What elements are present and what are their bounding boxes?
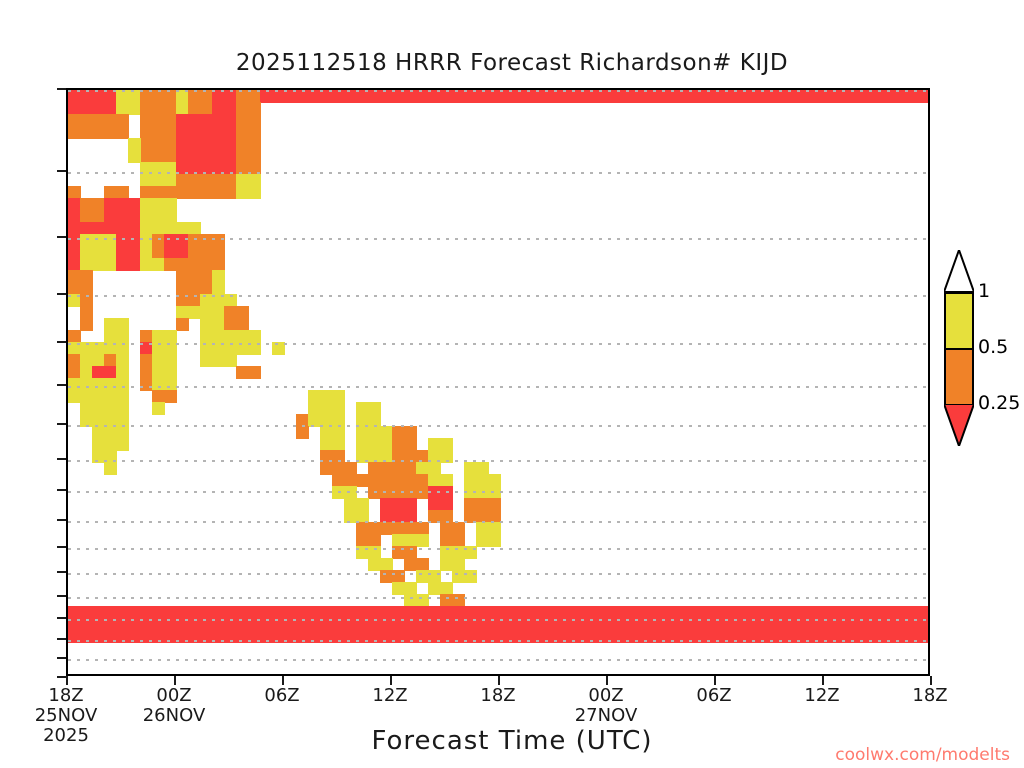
heatmap-cell: [404, 594, 429, 607]
y-tick-mark: [57, 519, 66, 521]
y-tick-mark: [57, 546, 66, 548]
heatmap-cell: [356, 546, 381, 559]
heatmap-cell: [68, 186, 81, 199]
heatmap-cell: [392, 522, 429, 535]
y-tick-mark: [57, 341, 66, 343]
heatmap-cell: [140, 222, 177, 235]
x-tick-mark: [390, 676, 392, 685]
heatmap-cell: [440, 546, 477, 559]
heatmap-cell: [176, 150, 213, 163]
heatmap-cell: [128, 210, 141, 223]
heatmap-cell: [236, 162, 261, 175]
heatmap-cell: [212, 282, 225, 295]
heatmap-cell: [260, 90, 930, 103]
y-tick-mark: [57, 458, 66, 460]
heatmap-cell: [68, 294, 81, 307]
heatmap-cell: [188, 102, 213, 115]
x-tick-mark: [66, 676, 68, 685]
heatmap-cell: [368, 474, 429, 487]
heatmap-cell: [104, 354, 117, 367]
heatmap-cell: [116, 354, 129, 367]
heatmap-cell: [440, 522, 465, 535]
y-tick-mark: [57, 617, 66, 619]
heatmap-cell: [212, 150, 237, 163]
heatmap-cell: [392, 450, 429, 463]
heatmap-cell: [368, 462, 417, 475]
heatmap-cell: [356, 450, 393, 463]
heatmap-cell: [356, 534, 381, 547]
heatmap-cell: [308, 414, 345, 427]
y-tick-mark: [57, 384, 66, 386]
heatmap-cell: [404, 558, 429, 571]
heatmap-cell: [152, 354, 177, 367]
heatmap-cell: [80, 354, 105, 367]
heatmap-cell: [92, 438, 129, 451]
heatmap-cell: [140, 186, 177, 199]
x-tick-mark: [498, 676, 500, 685]
heatmap-cell: [428, 486, 453, 499]
heatmap-cell: [464, 486, 501, 499]
heatmap-cell: [176, 282, 213, 295]
heatmap-cell: [80, 294, 93, 307]
heatmap-cell: [80, 282, 93, 295]
colorbar-cap-top: [944, 250, 974, 292]
heatmap-cell: [236, 102, 261, 115]
heatmap-cell: [368, 486, 429, 499]
heatmap-cell: [68, 222, 81, 235]
heatmap-cell: [152, 330, 177, 343]
heatmap-cell: [356, 414, 381, 427]
heatmap-cell: [236, 174, 261, 187]
heatmap-cell: [116, 366, 129, 379]
heatmap-cell: [224, 318, 249, 331]
heatmap-cell: [188, 234, 225, 247]
heatmap-cell: [356, 438, 393, 451]
heatmap-cell: [320, 438, 345, 451]
heatmap-cell: [176, 294, 201, 307]
y-tick-mark: [57, 676, 66, 678]
heatmap-cell: [356, 402, 381, 415]
heatmap-cell: [116, 234, 141, 247]
chart-page: 2025112518 HRRR Forecast Richardson# KIJ…: [0, 0, 1024, 768]
heatmap-cell: [128, 150, 141, 163]
heatmap-cell: [188, 246, 225, 259]
heatmap-cell: [440, 534, 465, 547]
x-tick-mark: [930, 676, 932, 685]
heatmap-cell: [68, 90, 117, 103]
heatmap-cell: [68, 354, 81, 367]
heatmap-cell: [140, 354, 153, 367]
heatmap-cell: [140, 138, 177, 151]
x-tick-label: 18Z: [860, 686, 1000, 706]
heatmap-cell: [116, 90, 141, 103]
x-tick-mark: [174, 676, 176, 685]
heatmap-cell: [140, 102, 177, 115]
heatmap-cell: [68, 234, 81, 247]
heatmap-cell: [104, 198, 129, 211]
colorbar-tick-label: 0.5: [978, 338, 1008, 357]
heatmap-cell: [176, 222, 201, 235]
x-tick-mark: [606, 676, 608, 685]
heatmap-cell: [272, 342, 285, 355]
heatmap-cell: [140, 162, 177, 175]
heatmap-cell: [104, 318, 129, 331]
heatmap-cell: [212, 270, 225, 283]
x-tick-time: 18Z: [860, 686, 1000, 706]
heatmap-cell: [140, 342, 153, 355]
heatmap-cell: [296, 426, 309, 439]
heatmap-cell: [308, 390, 345, 403]
y-tick-mark: [57, 489, 66, 491]
colorbar-band-orange[interactable]: [944, 348, 974, 404]
heatmap-cell: [176, 90, 189, 103]
heatmap-cell: [80, 402, 129, 415]
heatmap-cell: [68, 378, 81, 391]
x-tick-mark: [822, 676, 824, 685]
heatmap-cell: [92, 366, 117, 379]
heatmap-cell: [80, 342, 129, 355]
heatmap-cell: [428, 474, 453, 487]
heatmap-cell: [332, 486, 357, 499]
heatmap-cell: [236, 150, 261, 163]
heatmap-cell: [236, 114, 261, 127]
heatmap-cell: [392, 438, 417, 451]
heatmap-cell: [464, 498, 501, 511]
y-tick-mark: [57, 236, 66, 238]
heatmap-cell: [428, 438, 453, 451]
heatmap-cell: [440, 558, 465, 571]
heatmap-cell: [416, 462, 441, 475]
heatmap-cells: [68, 90, 928, 674]
heatmap-cell: [140, 378, 153, 391]
heatmap-cell: [308, 402, 345, 415]
heatmap-cell: [152, 342, 177, 355]
heatmap-cell: [104, 330, 129, 343]
heatmap-cell: [104, 186, 129, 199]
heatmap-cell: [212, 102, 237, 115]
x-tick-mark: [282, 676, 284, 685]
heatmap-cell: [212, 126, 237, 139]
heatmap-cell: [212, 114, 237, 127]
x-tick-date: 27NOV: [536, 706, 676, 726]
heatmap-cell: [80, 306, 93, 319]
heatmap-cell: [68, 246, 81, 259]
heatmap-cell: [80, 210, 105, 223]
watermark: coolwx.com/modelts: [835, 745, 1010, 765]
heatmap-cell: [236, 126, 261, 139]
heatmap-cell: [68, 342, 81, 355]
heatmap-cell: [92, 426, 129, 439]
heatmap-cell: [380, 510, 417, 523]
heatmap-cell: [104, 210, 129, 223]
heatmap-cell: [464, 474, 501, 487]
heatmap-cell: [68, 330, 81, 343]
heatmap-cell: [344, 510, 369, 523]
colorbar-tick-label: 0.25: [978, 394, 1020, 413]
heatmap-cell: [68, 258, 81, 271]
heatmap-cell: [200, 342, 261, 355]
heatmap-cell: [152, 234, 165, 247]
y-tick-mark: [57, 170, 66, 172]
heatmap-cell: [320, 450, 345, 463]
heatmap-cell: [92, 450, 117, 463]
heatmap-cell: [392, 546, 417, 559]
x-tick-mark: [714, 676, 716, 685]
heatmap-cell: [428, 498, 453, 511]
heatmap-cell: [128, 138, 141, 151]
y-tick-mark: [57, 423, 66, 425]
heatmap-cell: [176, 114, 213, 127]
heatmap-cell: [356, 426, 393, 439]
heatmap-cell: [200, 354, 237, 367]
heatmap-cell: [176, 162, 213, 175]
heatmap-cell: [164, 258, 177, 271]
heatmap-cell: [212, 186, 237, 199]
heatmap-cell: [212, 138, 237, 151]
heatmap-cell: [80, 378, 129, 391]
heatmap-cell: [80, 414, 129, 427]
heatmap-cell: [380, 498, 417, 511]
heatmap-cell: [428, 582, 453, 595]
heatmap-cell: [80, 318, 93, 331]
heatmap-cell: [68, 366, 81, 379]
colorbar-tick-label: 1: [978, 282, 990, 301]
heatmap-cell: [152, 390, 177, 403]
heatmap-cell: [140, 330, 153, 343]
heatmap-cell: [68, 282, 81, 295]
heatmap-cell: [476, 522, 501, 535]
heatmap-cell: [80, 270, 93, 283]
heatmap-cell: [140, 234, 153, 247]
heatmap-cell: [452, 570, 477, 583]
chart-title: 2025112518 HRRR Forecast Richardson# KIJ…: [0, 50, 1024, 76]
plot-area[interactable]: [66, 88, 930, 676]
heatmap-cell: [104, 462, 117, 475]
heatmap-cell: [140, 114, 177, 127]
heatmap-cell: [116, 102, 141, 115]
heatmap-cell: [116, 246, 141, 259]
heatmap-cell: [176, 138, 213, 151]
y-tick-mark: [57, 638, 66, 640]
heatmap-cell: [140, 246, 153, 259]
heatmap-cell: [152, 366, 177, 379]
heatmap-cell: [68, 606, 930, 619]
heatmap-cell: [176, 306, 201, 319]
heatmap-cell: [80, 234, 117, 247]
heatmap-cell: [320, 426, 345, 439]
heatmap-cell: [392, 426, 417, 439]
heatmap-cell: [68, 198, 81, 211]
heatmap-cell: [68, 210, 81, 223]
heatmap-cell: [140, 174, 177, 187]
heatmap-cell: [140, 366, 153, 379]
heatmap-cell: [164, 234, 189, 247]
heatmap-cell: [140, 258, 165, 271]
heatmap-cell: [140, 198, 177, 211]
heatmap-cell: [236, 186, 261, 199]
heatmap-cell: [344, 498, 369, 511]
heatmap-cell: [140, 210, 177, 223]
heatmap-cell: [116, 258, 141, 271]
heatmap-cell: [152, 402, 165, 415]
y-tick-mark: [57, 293, 66, 295]
heatmap-cell: [188, 90, 213, 103]
heatmap-cell: [236, 90, 261, 103]
heatmap-cell: [440, 594, 465, 607]
heatmap-cell: [92, 390, 129, 403]
heatmap-cell: [236, 366, 261, 379]
heatmap-cell: [68, 390, 93, 403]
heatmap-cell: [176, 174, 213, 187]
heatmap-cell: [380, 570, 405, 583]
heatmap-cell: [464, 462, 489, 475]
heatmap-cell: [80, 246, 117, 259]
heatmap-cell: [428, 450, 453, 463]
heatmap-cell: [476, 534, 501, 547]
heatmap-cell: [392, 534, 429, 547]
colorbar-cap-bottom: [944, 404, 974, 446]
heatmap-cell: [68, 270, 81, 283]
heatmap-cell: [68, 618, 930, 631]
heatmap-cell: [140, 90, 177, 103]
heatmap-cell: [176, 186, 213, 199]
heatmap-cell: [416, 570, 441, 583]
heatmap-cell: [80, 222, 129, 235]
heatmap-cell: [332, 474, 369, 487]
heatmap-cell: [68, 114, 129, 127]
heatmap-cell: [80, 258, 117, 271]
heatmap-cell: [176, 126, 213, 139]
y-tick-mark: [57, 657, 66, 659]
heatmap-cell: [176, 270, 213, 283]
heatmap-cell: [152, 246, 165, 259]
heatmap-cell: [68, 102, 117, 115]
heatmap-cell: [296, 414, 309, 427]
heatmap-cell: [80, 198, 105, 211]
heatmap-cell: [128, 222, 141, 235]
heatmap-cell: [200, 330, 261, 343]
y-tick-mark: [57, 88, 66, 90]
heatmap-cell: [176, 258, 225, 271]
heatmap-cell: [212, 162, 237, 175]
heatmap-cell: [236, 138, 261, 151]
heatmap-cell: [320, 462, 357, 475]
heatmap-cell: [68, 126, 129, 139]
colorbar-band-yellow[interactable]: [944, 292, 974, 348]
y-tick-mark: [57, 595, 66, 597]
heatmap-cell: [80, 366, 93, 379]
richardson-number-colorbar[interactable]: 10.50.25: [944, 292, 974, 472]
heatmap-cell: [368, 558, 393, 571]
heatmap-cell: [140, 150, 177, 163]
heatmap-cell: [152, 378, 177, 391]
heatmap-cell: [176, 318, 189, 331]
heatmap-cell: [392, 582, 417, 595]
y-tick-mark: [57, 571, 66, 573]
heatmap-cell: [224, 306, 249, 319]
heatmap-cell: [428, 510, 453, 523]
heatmap-cell: [128, 198, 141, 211]
heatmap-cell: [212, 174, 237, 187]
heatmap-cell: [140, 126, 177, 139]
heatmap-cell: [164, 246, 189, 259]
x-tick-date: 26NOV: [104, 706, 244, 726]
heatmap-cell: [356, 522, 393, 535]
heatmap-cell: [200, 294, 237, 307]
heatmap-cell: [464, 510, 501, 523]
heatmap-cell: [68, 630, 930, 643]
heatmap-cell: [176, 102, 189, 115]
heatmap-cell: [212, 90, 237, 103]
